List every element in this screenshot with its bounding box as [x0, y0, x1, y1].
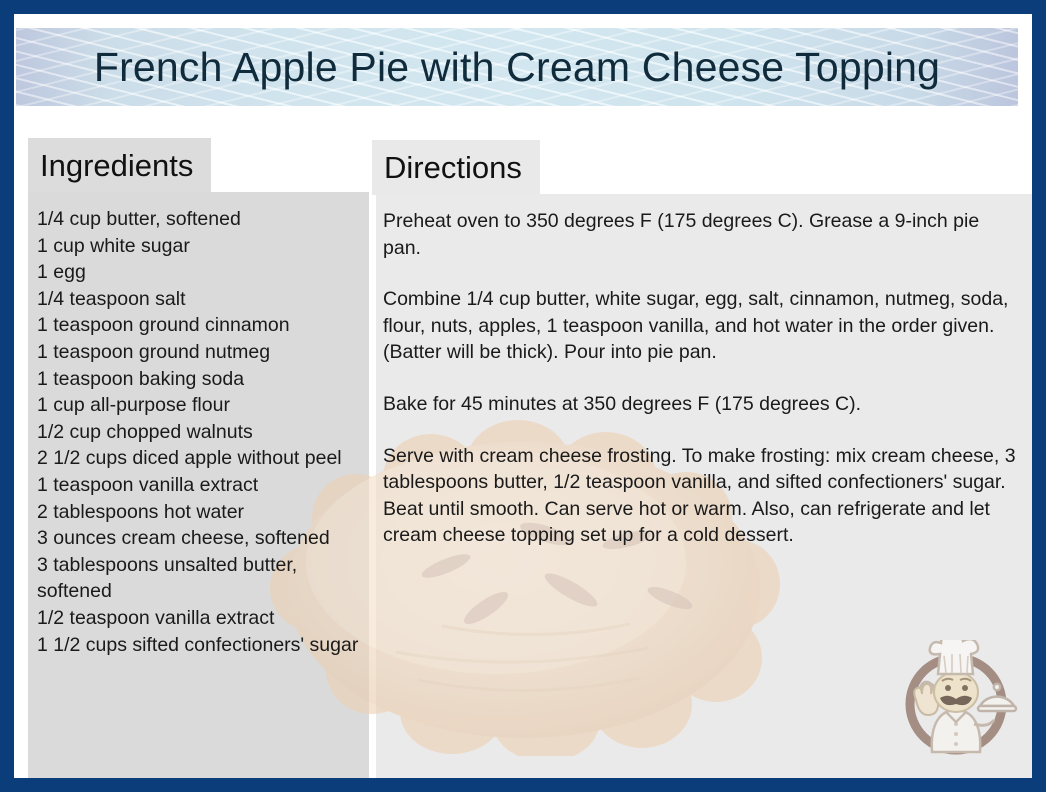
recipe-card: French Apple Pie with Cream Cheese Toppi… [0, 0, 1046, 792]
direction-step: Combine 1/4 cup butter, white sugar, egg… [383, 286, 1020, 366]
title-banner: French Apple Pie with Cream Cheese Toppi… [16, 28, 1018, 106]
list-item: 1/4 teaspoon salt [37, 286, 359, 313]
directions-heading: Directions [372, 140, 540, 195]
list-item: 1 teaspoon vanilla extract [37, 472, 359, 499]
list-item: 1/2 teaspoon vanilla extract [37, 605, 359, 632]
page-title: French Apple Pie with Cream Cheese Toppi… [16, 28, 1018, 106]
list-item: 2 1/2 cups diced apple without peel [37, 445, 359, 472]
list-item: 1 cup all-purpose flour [37, 392, 359, 419]
direction-step: Preheat oven to 350 degrees F (175 degre… [383, 208, 1020, 261]
ingredients-list: 1/4 cup butter, softened 1 cup white sug… [28, 192, 369, 658]
ingredients-heading: Ingredients [28, 138, 211, 193]
list-item: 1 1/2 cups sifted confectioners' sugar [37, 632, 359, 659]
direction-step: Serve with cream cheese frosting. To mak… [383, 443, 1020, 549]
list-item: 3 ounces cream cheese, softened [37, 525, 359, 552]
chef-logo-icon [894, 640, 1018, 764]
list-item: 1 teaspoon ground nutmeg [37, 339, 359, 366]
directions-body: Preheat oven to 350 degrees F (175 degre… [376, 194, 1034, 549]
list-item: 1 cup white sugar [37, 233, 359, 260]
list-item: 1 egg [37, 259, 359, 286]
list-item: 1 teaspoon ground cinnamon [37, 312, 359, 339]
list-item: 1 teaspoon baking soda [37, 366, 359, 393]
list-item: 1/4 cup butter, softened [37, 206, 359, 233]
direction-step: Bake for 45 minutes at 350 degrees F (17… [383, 391, 1020, 418]
list-item: 3 tablespoons unsalted butter, softened [37, 552, 359, 605]
list-item: 2 tablespoons hot water [37, 499, 359, 526]
ingredients-panel: 1/4 cup butter, softened 1 cup white sug… [28, 192, 369, 792]
list-item: 1/2 cup chopped walnuts [37, 419, 359, 446]
